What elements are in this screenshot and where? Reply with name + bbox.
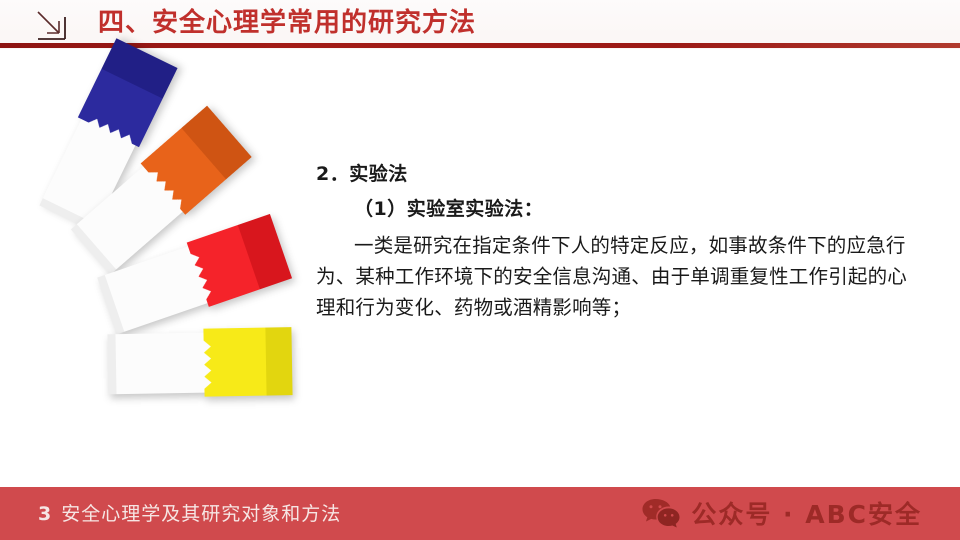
footer-page-number: 3 xyxy=(38,503,52,525)
slide-footer: 3安全心理学及其研究对象和方法 公众号 · ABC安全 xyxy=(0,487,960,540)
arrow-down-right-icon xyxy=(34,8,70,42)
slide-body: 2．实验法 （1）实验室实验法： 一类是研究在指定条件下人的特定反应，如事故条件… xyxy=(316,160,916,323)
yellow-ticket xyxy=(107,327,292,398)
heading-experiment-method: 2．实验法 xyxy=(316,160,916,188)
page-title: 四、安全心理学常用的研究方法 xyxy=(98,4,476,42)
footer-section-label: 3安全心理学及其研究对象和方法 xyxy=(38,499,341,526)
wechat-brand: 公众号 · ABC安全 xyxy=(641,495,922,531)
slide-canvas: 四、安全心理学常用的研究方法 xyxy=(0,0,960,540)
body-paragraph: 一类是研究在指定条件下人的特定反应，如事故条件下的应急行为、某种工作环境下的安全… xyxy=(316,230,916,323)
footer-section-title: 安全心理学及其研究对象和方法 xyxy=(61,503,341,525)
slide-header: 四、安全心理学常用的研究方法 xyxy=(0,0,960,49)
subheading-lab-experiment: （1）实验室实验法： xyxy=(354,194,916,224)
wechat-icon xyxy=(641,496,681,530)
header-rule xyxy=(0,43,960,48)
brand-text: 公众号 · ABC安全 xyxy=(691,495,922,531)
fanned-tickets-illustration xyxy=(0,150,300,480)
